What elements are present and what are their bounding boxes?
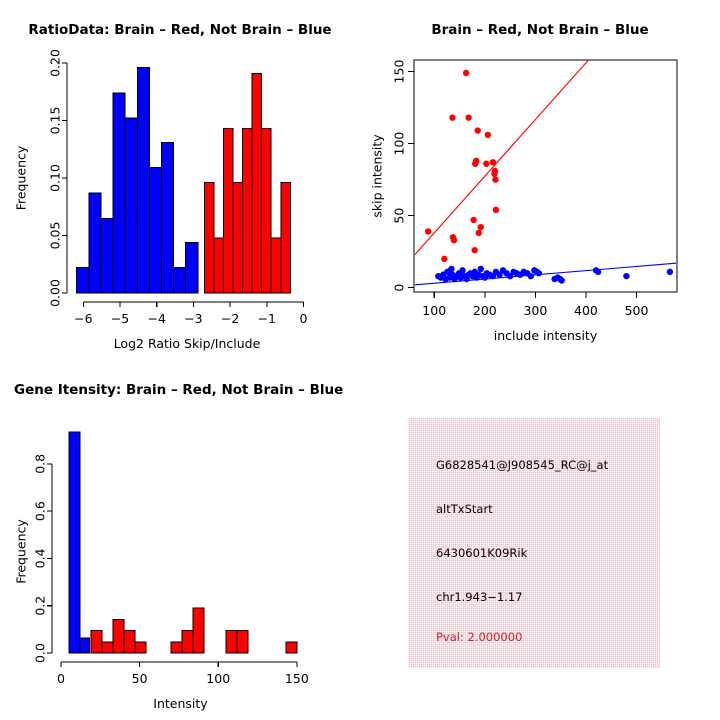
annotation-locus: chr1.943−1.17 <box>436 590 523 604</box>
svg-text:50: 50 <box>132 671 148 686</box>
svg-text:200: 200 <box>473 303 497 318</box>
svg-text:0: 0 <box>392 284 407 292</box>
svg-text:0.8: 0.8 <box>33 454 48 474</box>
annotation-probe-id: G6828541@J908545_RC@j_at <box>436 458 608 472</box>
annotation-pvalue: Pval: 2.000000 <box>436 630 522 644</box>
scatter-canvas: 050100150100200300400500include intensit… <box>360 0 720 360</box>
svg-text:−5: −5 <box>111 311 129 326</box>
svg-text:0.6: 0.6 <box>33 501 48 521</box>
svg-text:−2: −2 <box>221 311 239 326</box>
svg-text:0.15: 0.15 <box>48 107 63 135</box>
svg-text:Frequency: Frequency <box>14 519 29 584</box>
svg-text:0.10: 0.10 <box>48 164 63 192</box>
svg-text:Intensity: Intensity <box>153 696 208 711</box>
panel-intensity-scatter: Brain – Red, Not Brain – Blue 0501001501… <box>360 0 720 360</box>
svg-text:0.00: 0.00 <box>48 279 63 307</box>
svg-text:−3: −3 <box>184 311 202 326</box>
svg-text:Frequency: Frequency <box>14 145 29 210</box>
svg-text:150: 150 <box>285 671 309 686</box>
svg-text:include intensity: include intensity <box>494 328 598 343</box>
svg-text:50: 50 <box>392 208 407 224</box>
svg-text:skip intensity: skip intensity <box>370 134 385 218</box>
panel-gene-annotation: G6828541@J908545_RC@j_at altTxStart 6430… <box>360 360 720 720</box>
ratio-histogram-canvas: 0.000.050.100.150.20−6−5−4−3−2−10Log2 Ra… <box>0 0 360 360</box>
gene-histogram-canvas: 0.00.20.40.60.8050100150IntensityFrequen… <box>0 360 360 720</box>
annotation-box: G6828541@J908545_RC@j_at altTxStart 6430… <box>408 418 660 668</box>
svg-text:0: 0 <box>57 671 65 686</box>
panel-ratio-histogram: RatioData: Brain – Red, Not Brain – Blue… <box>0 0 360 360</box>
svg-text:Log2 Ratio Skip/Include: Log2 Ratio Skip/Include <box>114 336 261 351</box>
svg-text:0.4: 0.4 <box>33 548 48 568</box>
svg-text:100: 100 <box>422 303 446 318</box>
annotation-gene-symbol: 6430601K09Rik <box>436 546 527 560</box>
svg-text:−4: −4 <box>148 311 166 326</box>
svg-text:0.20: 0.20 <box>48 49 63 77</box>
annotation-event-type: altTxStart <box>436 502 493 516</box>
svg-text:100: 100 <box>392 132 407 156</box>
svg-text:0: 0 <box>300 311 308 326</box>
svg-text:−6: −6 <box>74 311 92 326</box>
svg-text:−1: −1 <box>258 311 276 326</box>
svg-text:150: 150 <box>392 60 407 84</box>
svg-text:500: 500 <box>625 303 649 318</box>
panel-gene-intensity: Gene Itensity: Brain – Red, Not Brain – … <box>0 360 360 720</box>
svg-text:300: 300 <box>523 303 547 318</box>
svg-text:400: 400 <box>574 303 598 318</box>
svg-text:0.0: 0.0 <box>33 643 48 663</box>
svg-text:0.2: 0.2 <box>33 596 48 616</box>
svg-text:100: 100 <box>206 671 230 686</box>
svg-text:0.05: 0.05 <box>48 222 63 250</box>
